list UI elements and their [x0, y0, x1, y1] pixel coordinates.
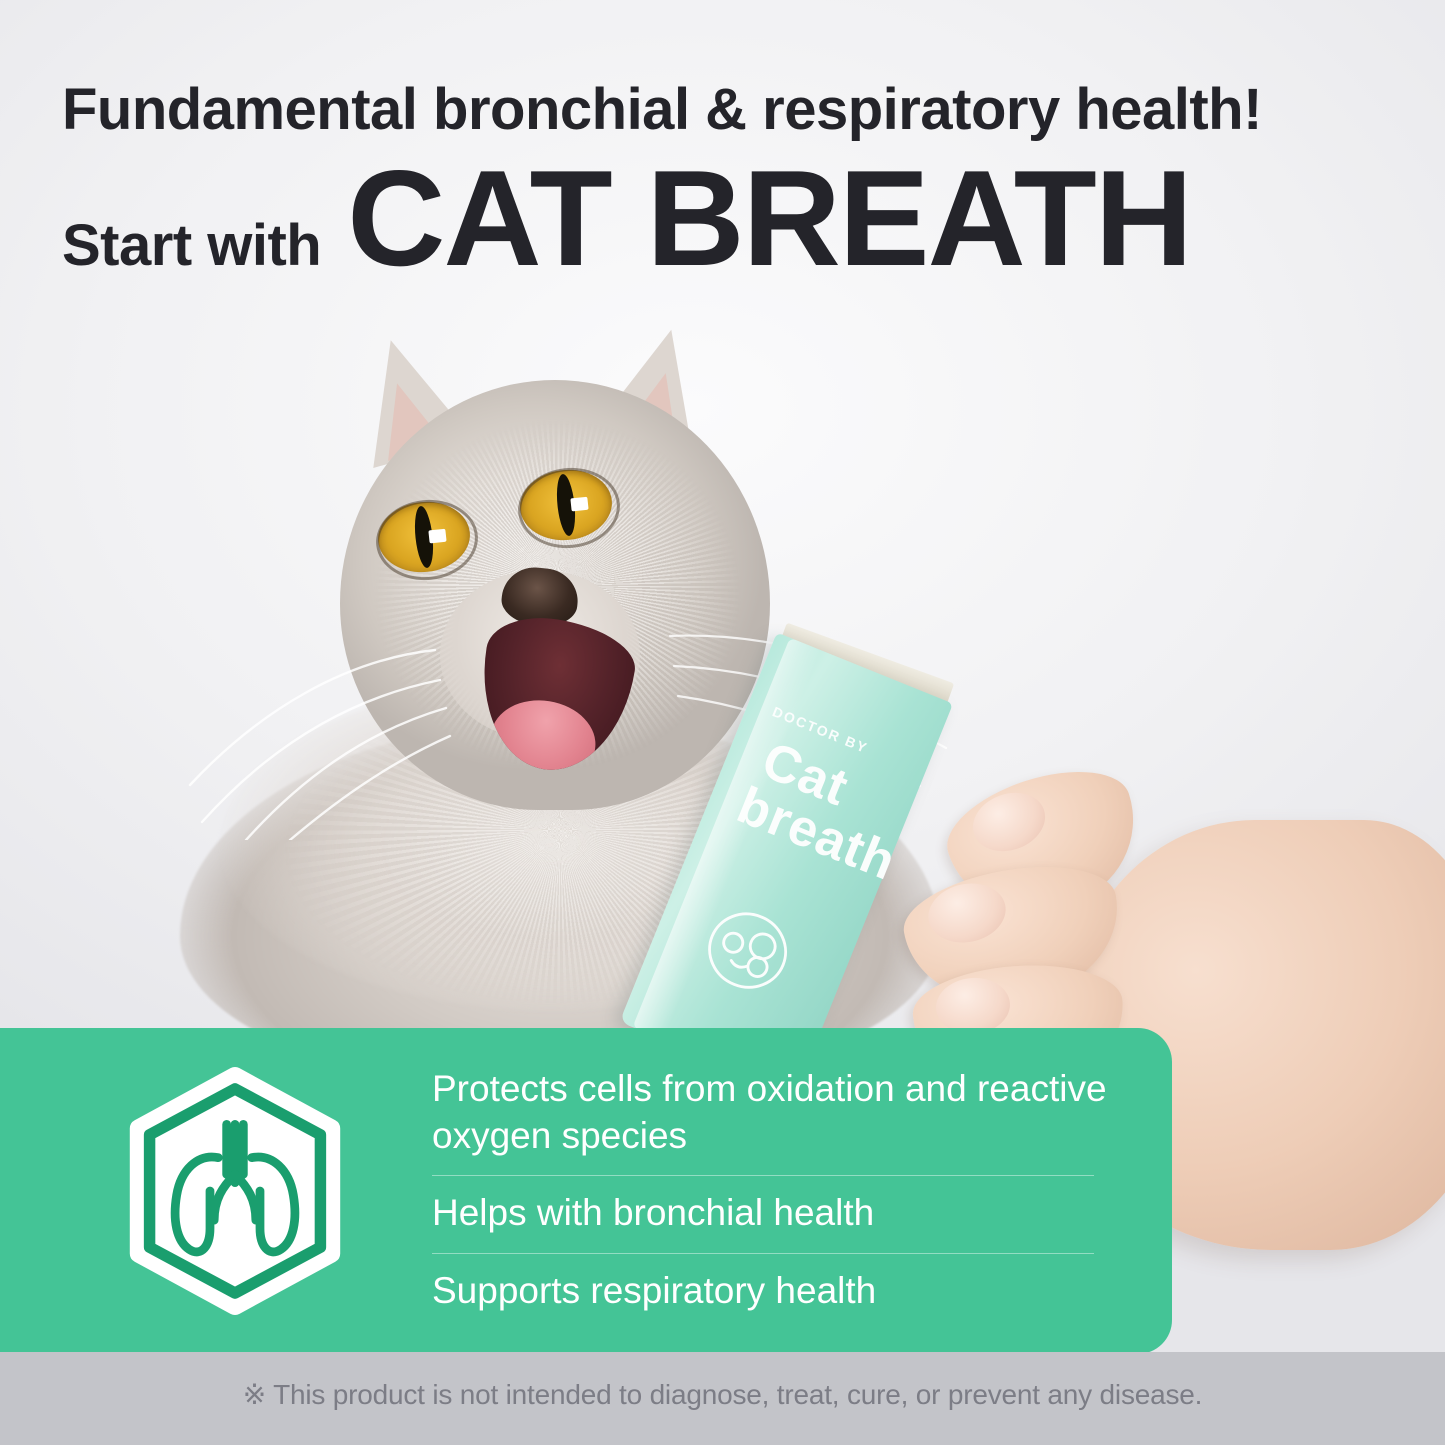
benefit-item-3: Supports respiratory health: [432, 1254, 1132, 1331]
headline-emphasis: CAT BREATH: [347, 153, 1191, 284]
headline-line-2: Start with CAT BREATH: [62, 153, 1402, 284]
benefit-item-2: Helps with bronchial health: [432, 1176, 1132, 1253]
headline-prefix: Start with: [62, 212, 321, 279]
product-marketing-poster: DOCTOR BY Cat breath: [0, 0, 1445, 1445]
headline-line-1: Fundamental bronchial & respiratory heal…: [62, 80, 1402, 141]
benefit-list: Protects cells from oxidation and reacti…: [432, 1054, 1132, 1330]
lungs-hexagon-icon: [110, 1066, 360, 1316]
disclaimer-text: ※ This product is not intended to diagno…: [0, 1378, 1445, 1411]
headline: Fundamental bronchial & respiratory heal…: [62, 80, 1402, 283]
benefits-panel: Protects cells from oxidation and reacti…: [0, 1028, 1172, 1354]
benefit-item-1: Protects cells from oxidation and reacti…: [432, 1054, 1132, 1175]
